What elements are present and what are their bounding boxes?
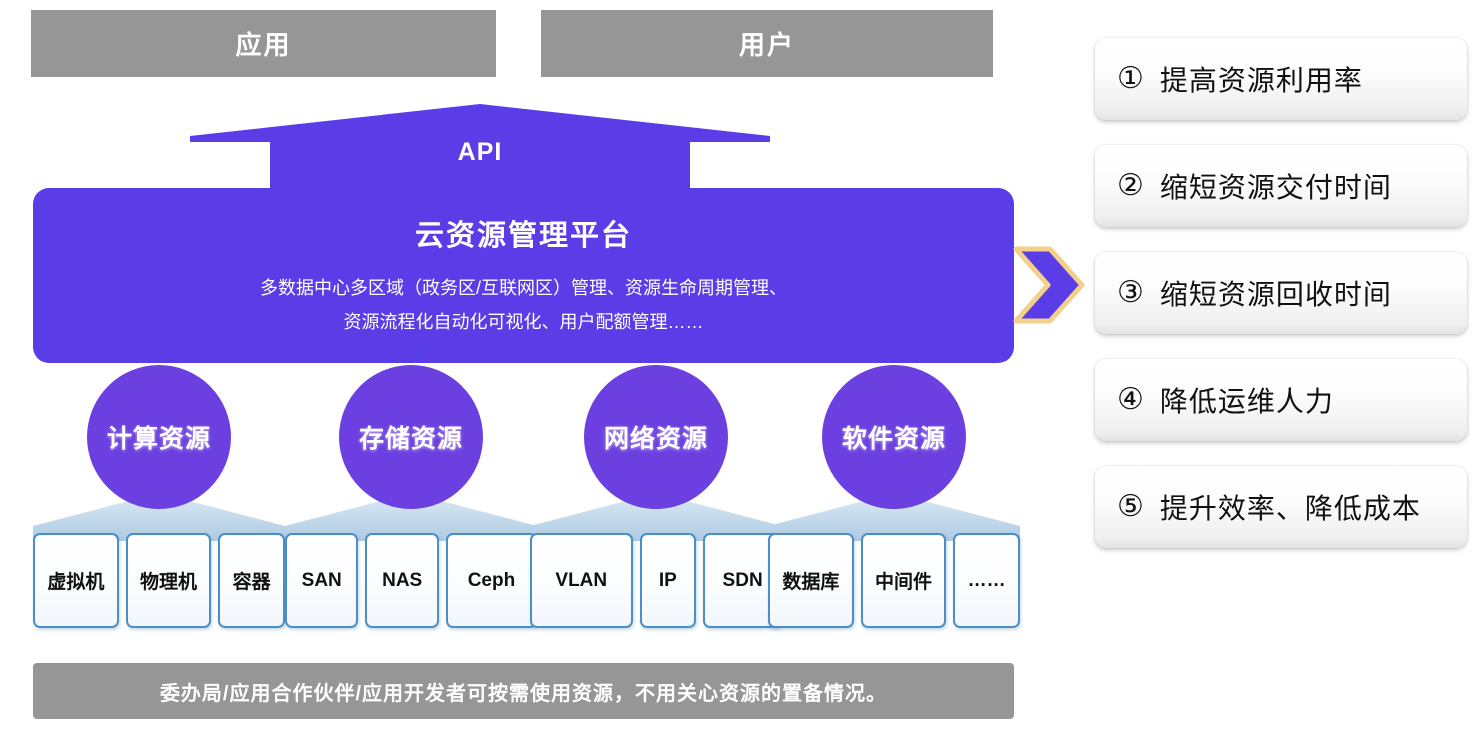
consumer-bar-application: 应用 — [31, 10, 496, 77]
benefit-label: 提升效率、降低成本 — [1160, 487, 1421, 527]
platform-description-line-1: 多数据中心多区域（政务区/互联网区）管理、资源生命周期管理、 — [260, 272, 787, 305]
benefit-label: 缩短资源回收时间 — [1160, 273, 1392, 313]
resource-box[interactable]: NAS — [365, 533, 438, 628]
consumer-bar-application-label: 应用 — [235, 25, 291, 62]
resource-box-list-storage: SAN NAS Ceph — [285, 533, 537, 628]
resource-box[interactable]: 中间件 — [861, 533, 947, 628]
resource-box[interactable]: IP — [640, 533, 697, 628]
resource-box[interactable]: 容器 — [218, 533, 285, 628]
api-banner: API — [190, 104, 770, 189]
consumer-bar-user: 用户 — [541, 10, 993, 77]
benefit-number: ② — [1117, 171, 1144, 201]
benefit-number: ③ — [1117, 278, 1144, 308]
resource-box[interactable]: 虚拟机 — [33, 533, 119, 628]
benefit-label: 缩短资源交付时间 — [1160, 166, 1392, 206]
benefit-number: ⑤ — [1117, 492, 1144, 522]
platform-description-line-2: 资源流程化自动化可视化、用户配额管理…… — [260, 306, 787, 339]
benefits-panel: ① 提高资源利用率 ② 缩短资源交付时间 ③ 缩短资源回收时间 ④ 降低运维人力… — [1095, 38, 1467, 550]
cloud-resource-platform-card: 云资源管理平台 多数据中心多区域（政务区/互联网区）管理、资源生命周期管理、 资… — [33, 188, 1014, 363]
benefit-label: 降低运维人力 — [1160, 380, 1334, 420]
resource-box[interactable]: 物理机 — [126, 533, 212, 628]
resource-box[interactable]: 数据库 — [768, 533, 854, 628]
benefit-card[interactable]: ④ 降低运维人力 — [1095, 359, 1467, 441]
resource-box-list-software: 数据库 中间件 …… — [768, 533, 1020, 628]
platform-description: 多数据中心多区域（政务区/互联网区）管理、资源生命周期管理、 资源流程化自动化可… — [260, 272, 787, 339]
resource-group-network: 网络资源 VLAN IP SDN — [530, 365, 782, 635]
benefit-number: ④ — [1117, 385, 1144, 415]
benefit-card[interactable]: ① 提高资源利用率 — [1095, 38, 1467, 120]
benefit-number: ① — [1117, 64, 1144, 94]
api-label: API — [190, 138, 770, 167]
resource-circle-compute[interactable]: 计算资源 — [87, 365, 231, 509]
resource-box[interactable]: SAN — [285, 533, 358, 628]
resource-box[interactable]: Ceph — [446, 533, 537, 628]
resource-groups: 计算资源 虚拟机 物理机 容器 存储资源 — [0, 365, 1040, 635]
resource-circle-software[interactable]: 软件资源 — [822, 365, 966, 509]
benefit-card[interactable]: ③ 缩短资源回收时间 — [1095, 252, 1467, 334]
resource-box[interactable]: …… — [953, 533, 1020, 628]
footer-banner-text: 委办局/应用合作伙伴/应用开发者可按需使用资源，不用关心资源的置备情况。 — [160, 677, 887, 706]
footer-banner: 委办局/应用合作伙伴/应用开发者可按需使用资源，不用关心资源的置备情况。 — [33, 663, 1014, 719]
benefit-card[interactable]: ② 缩短资源交付时间 — [1095, 145, 1467, 227]
resource-box-list-network: VLAN IP SDN — [530, 533, 782, 628]
resource-box-list-compute: 虚拟机 物理机 容器 — [33, 533, 285, 628]
resource-circle-storage[interactable]: 存储资源 — [339, 365, 483, 509]
consumer-bar-user-label: 用户 — [739, 25, 795, 62]
resource-circle-network[interactable]: 网络资源 — [584, 365, 728, 509]
chevron-right-icon — [1010, 243, 1088, 327]
platform-title: 云资源管理平台 — [415, 212, 632, 254]
resource-group-software: 软件资源 数据库 中间件 …… — [768, 365, 1020, 635]
diagram-canvas: 应用 用户 API 云资源管理平台 多数据中心多区域（政务区/互联网区）管理、资… — [0, 0, 1483, 730]
resource-group-compute: 计算资源 虚拟机 物理机 容器 — [33, 365, 285, 635]
benefit-label: 提高资源利用率 — [1160, 59, 1363, 99]
resource-box[interactable]: VLAN — [530, 533, 633, 628]
benefit-card[interactable]: ⑤ 提升效率、降低成本 — [1095, 466, 1467, 548]
resource-group-storage: 存储资源 SAN NAS Ceph — [285, 365, 537, 635]
